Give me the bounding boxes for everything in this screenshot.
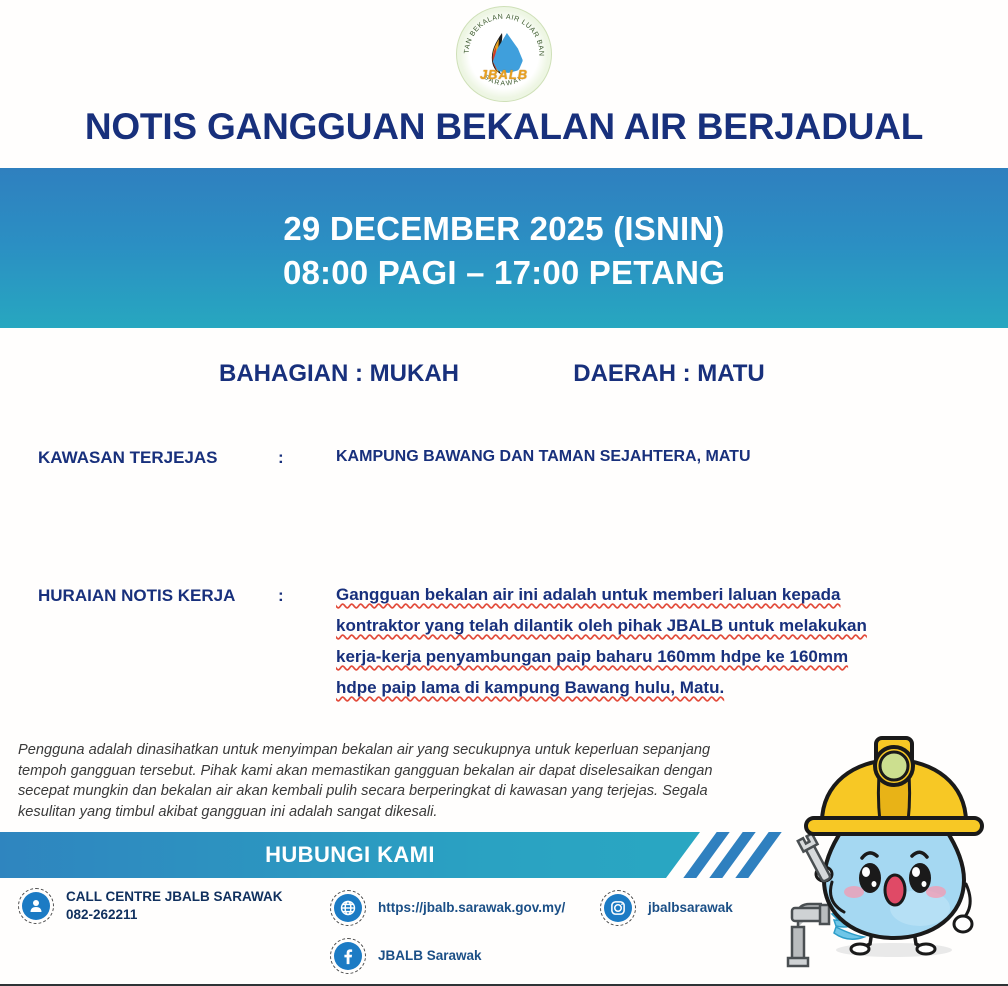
- person-icon: [18, 888, 54, 924]
- globe-icon: [330, 890, 366, 926]
- contact-call-centre[interactable]: CALL CENTRE JBALB SARAWAK 082-262211: [18, 888, 283, 924]
- work-description-line: hdpe paip lama di kampung Bawang hulu, M…: [336, 679, 867, 696]
- region-row: BAHAGIAN : MUKAH DAERAH : MATU: [0, 360, 1008, 388]
- logo-container: JABATAN BEKALAN AIR LUAR BANDAR SARAWAK …: [0, 6, 1008, 102]
- affected-area-label: KAWASAN TERJEJAS: [38, 448, 278, 468]
- call-centre-text: CALL CENTRE JBALB SARAWAK 082-262211: [66, 888, 283, 924]
- contact-instagram[interactable]: jbalbsarawak: [600, 890, 733, 926]
- website-url[interactable]: https://jbalb.sarawak.gov.my/: [378, 899, 565, 917]
- contact-facebook[interactable]: JBALB Sarawak: [330, 938, 482, 974]
- page-title: NOTIS GANGGUAN BEKALAN AIR BERJADUAL: [0, 106, 1008, 148]
- district-label: DAERAH : MATU: [504, 360, 834, 388]
- notice-time: 08:00 PAGI – 17:00 PETANG: [283, 254, 725, 292]
- call-centre-name: CALL CENTRE JBALB SARAWAK: [66, 888, 283, 906]
- contact-banner: HUBUNGI KAMI: [0, 832, 1008, 878]
- facebook-icon: [330, 938, 366, 974]
- contact-website[interactable]: https://jbalb.sarawak.gov.my/: [330, 890, 565, 926]
- work-description-label: HURAIAN NOTIS KERJA: [38, 586, 278, 606]
- affected-area-field: KAWASAN TERJEJAS : KAMPUNG BAWANG DAN TA…: [38, 448, 978, 468]
- contact-heading: HUBUNGI KAMI: [0, 832, 700, 878]
- jbalb-logo: JABATAN BEKALAN AIR LUAR BANDAR SARAWAK …: [456, 6, 552, 102]
- division-label: BAHAGIAN : MUKAH: [174, 360, 504, 388]
- affected-area-value: KAMPUNG BAWANG DAN TAMAN SEJAHTERA, MATU: [336, 448, 751, 466]
- work-description-colon: :: [278, 586, 336, 606]
- call-centre-phone: 082-262211: [66, 906, 283, 924]
- work-description-line: kerja-kerja penyambungan paip baharu 160…: [336, 648, 867, 665]
- affected-area-colon: :: [278, 448, 336, 468]
- instagram-icon: [600, 890, 636, 926]
- instagram-handle[interactable]: jbalbsarawak: [648, 899, 733, 917]
- advisory-paragraph: Pengguna adalah dinasihatkan untuk menyi…: [18, 740, 728, 823]
- water-supply-disruption-notice: JABATAN BEKALAN AIR LUAR BANDAR SARAWAK …: [0, 0, 1008, 986]
- work-description-field: HURAIAN NOTIS KERJA : Gangguan bekalan a…: [38, 586, 978, 696]
- facebook-handle[interactable]: JBALB Sarawak: [378, 947, 482, 965]
- date-time-banner: 29 DECEMBER 2025 (ISNIN) 08:00 PAGI – 17…: [0, 168, 1008, 328]
- notice-date: 29 DECEMBER 2025 (ISNIN): [283, 210, 724, 248]
- work-description-line: Gangguan bekalan air ini adalah untuk me…: [336, 586, 867, 603]
- logo-acronym: JBALB: [457, 67, 551, 82]
- work-description-line: kontraktor yang telah dilantik oleh piha…: [336, 617, 867, 634]
- work-description-lines: Gangguan bekalan air ini adalah untuk me…: [336, 586, 867, 696]
